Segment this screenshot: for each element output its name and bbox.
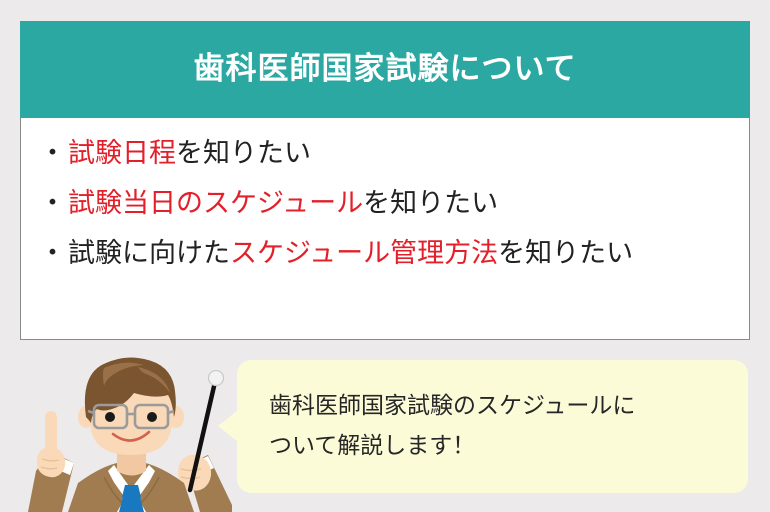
speech-bubble-line: ついて解説します！ [269,426,748,466]
card-header: 歯科医師国家試験について [20,21,750,118]
list-item: ・ 試験に向けた スケジュール管理方法 を知りたい [39,240,749,267]
list-item-rest: を知りたい [498,240,633,267]
list-item-highlight: スケジュール管理方法 [230,240,498,267]
teacher-character-illustration [18,355,243,512]
list-item-rest: を知りたい [176,140,311,167]
list-item: ・ 試験当日のスケジュール を知りたい [39,190,749,217]
eye-right [147,412,157,422]
list-item-highlight: 試験日程 [68,140,176,167]
pointing-hand-icon [28,411,74,512]
speech-bubble: 歯科医師国家試験のスケジュールに ついて解説します！ [237,360,748,493]
card-body: ・ 試験日程 を知りたい ・ 試験当日のスケジュール を知りたい ・ 試験に向け… [20,118,750,340]
page-title: 歯科医師国家試験について [193,54,576,85]
list-item-highlight: 試験当日のスケジュール [68,190,363,217]
bullet-icon: ・ [39,240,66,267]
bullet-icon: ・ [39,140,66,167]
eye-left [105,412,115,422]
list-item-lead: 試験に向けた [68,240,230,267]
speech-bubble-line: 歯科医師国家試験のスケジュールに [269,386,748,426]
list-item-rest: を知りたい [363,190,498,217]
info-card: 歯科医師国家試験について ・ 試験日程 を知りたい ・ 試験当日のスケジュール … [20,21,750,340]
list-item: ・ 試験日程 を知りたい [39,140,749,167]
bullet-icon: ・ [39,190,66,217]
